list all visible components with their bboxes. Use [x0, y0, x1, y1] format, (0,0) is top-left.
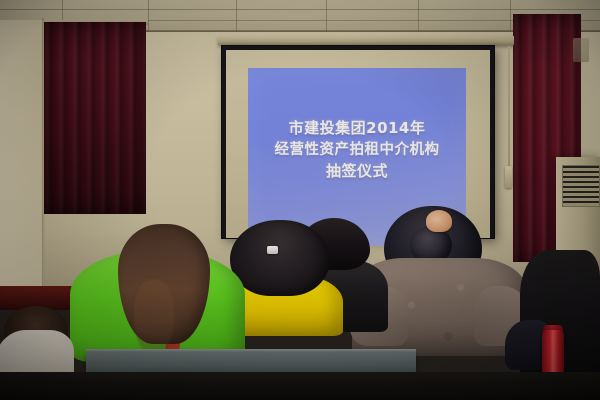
slide-text-block: 市建投集团2014年 经营性资产拍租中介机构 抽签仪式 [248, 118, 466, 183]
foreground-shadow [0, 372, 600, 400]
hair-clip [267, 246, 278, 254]
wall-speaker-icon [573, 38, 589, 62]
hair-strand [134, 280, 174, 356]
curtain-left-shading [44, 22, 146, 214]
slide-line-2: 经营性资产拍租中介机构 [248, 140, 466, 161]
left-wall [0, 20, 44, 310]
slide-line-1: 市建投集团2014年 [248, 118, 466, 140]
screen-valance [218, 36, 514, 45]
person-green-coat [70, 228, 245, 358]
screen-cord-weight [505, 166, 512, 188]
hair-ornament [426, 210, 452, 232]
slide-line-3: 抽签仪式 [248, 161, 466, 183]
screen-pull-cord [508, 46, 510, 166]
photo-scene: 市建投集团2014年 经营性资产拍租中介机构 抽签仪式 [0, 0, 600, 400]
hair-yellow-coat [230, 220, 330, 296]
air-conditioner-vent-icon [562, 165, 600, 207]
